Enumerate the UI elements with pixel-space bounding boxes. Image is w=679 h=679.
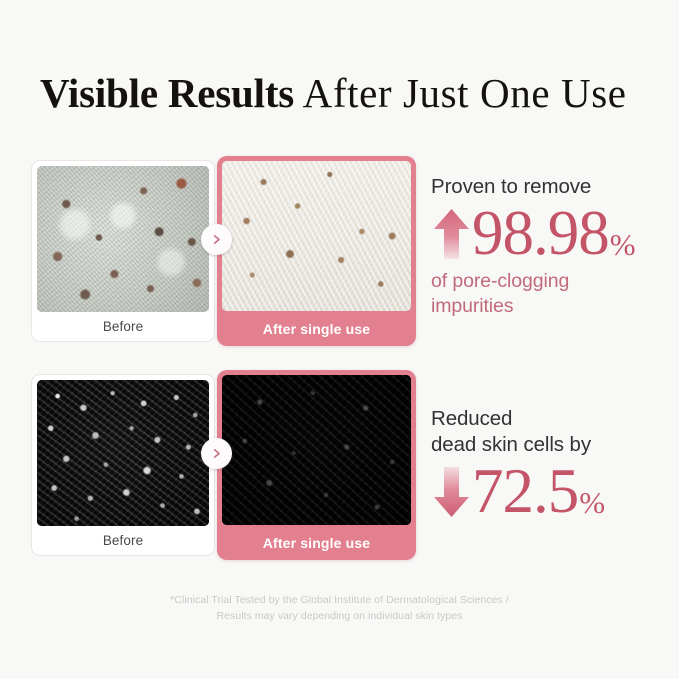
footnote: *Clinical Trial Tested by the Global Ins… bbox=[0, 592, 679, 624]
comparison-row-2: Before After single use bbox=[31, 374, 416, 556]
stat-lead-2-line1: Reduced bbox=[431, 406, 605, 432]
stat-lead-2-line2: dead skin cells by bbox=[431, 432, 605, 458]
chevron-right-icon bbox=[201, 224, 232, 255]
page-title-strong: Visible Results bbox=[40, 70, 294, 116]
after-photo-2 bbox=[222, 375, 411, 525]
after-card-2: After single use bbox=[217, 370, 416, 560]
stat-value-1: 98.98 bbox=[472, 202, 609, 265]
before-photo-1 bbox=[37, 166, 209, 312]
footnote-line-2: Results may vary depending on individual… bbox=[0, 608, 679, 624]
results-infographic: Visible Results After Just One Use Befor… bbox=[0, 0, 679, 679]
after-card-1: After single use bbox=[217, 156, 416, 346]
stat-value-2: 72.5 bbox=[472, 460, 578, 523]
before-after-pair-1: Before After single use bbox=[31, 160, 416, 342]
skin-texture-image bbox=[222, 375, 411, 525]
skin-texture-image bbox=[37, 166, 209, 312]
after-photo-1 bbox=[222, 161, 411, 311]
stat-figure-1: 98.98 % bbox=[431, 202, 636, 265]
stat-sub-1: of pore-clogging impurities bbox=[431, 269, 631, 319]
after-label-2: After single use bbox=[217, 525, 416, 560]
page-title: Visible Results After Just One Use bbox=[40, 68, 650, 118]
before-card-2: Before bbox=[31, 374, 215, 556]
before-photo-2 bbox=[37, 380, 209, 526]
skin-texture-image bbox=[222, 161, 411, 311]
page-title-light: After Just One Use bbox=[294, 70, 627, 116]
skin-texture-image bbox=[37, 380, 209, 526]
before-card-1: Before bbox=[31, 160, 215, 342]
before-label-1: Before bbox=[32, 312, 214, 341]
after-label-1: After single use bbox=[217, 311, 416, 346]
arrow-down-icon bbox=[431, 461, 472, 523]
comparison-row-1: Before After single use bbox=[31, 160, 416, 342]
stat-block-dead-skin: Reduced dead skin cells by 72.5 % bbox=[431, 406, 605, 523]
stat-block-impurities: Proven to remove 98.98 % of pore-clogg bbox=[431, 174, 636, 319]
before-after-pair-2: Before After single use bbox=[31, 374, 416, 556]
stat-lead-1: Proven to remove bbox=[431, 174, 636, 200]
before-label-2: Before bbox=[32, 526, 214, 555]
stat-figure-2: 72.5 % bbox=[431, 460, 605, 523]
stat-unit-1: % bbox=[610, 229, 636, 265]
footnote-line-1: *Clinical Trial Tested by the Global Ins… bbox=[0, 592, 679, 608]
chevron-right-icon bbox=[201, 438, 232, 469]
arrow-up-icon bbox=[431, 203, 472, 265]
stat-unit-2: % bbox=[579, 487, 605, 523]
